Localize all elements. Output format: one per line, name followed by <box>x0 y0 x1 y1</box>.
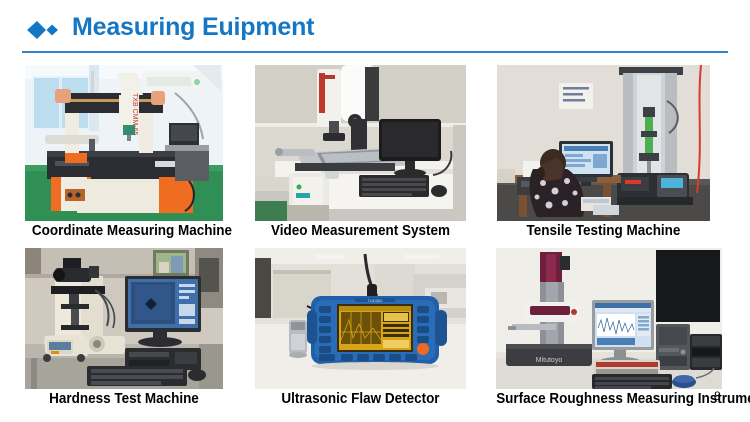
photo-coordinate-measuring-machine: TXB CMM-65 <box>25 65 223 221</box>
svg-text:Mitutoyo: Mitutoyo <box>536 357 563 364</box>
caption-tensile-testing-machine: Tensile Testing Machine <box>504 223 702 239</box>
title-divider <box>22 51 728 53</box>
photo-ultrasonic-flaw-detector: TUD300 <box>255 248 466 389</box>
photo-video-measurement-system <box>255 65 466 221</box>
double-diamond-icon <box>26 20 60 40</box>
photo-surface-roughness-measuring-instrument: Mitutoyo <box>496 248 722 389</box>
caption-ultrasonic-flaw-detector: Ultrasonic Flaw Detector <box>262 391 458 407</box>
svg-text:TUD300: TUD300 <box>368 298 384 303</box>
page-number: 8 <box>714 389 721 403</box>
photo-hardness-test-machine <box>25 248 223 389</box>
photo-tensile-testing-machine <box>497 65 710 221</box>
caption-surface-roughness-measuring-instrument: Surface Roughness Measuring Instrument <box>496 391 714 407</box>
slide-header: Measuring Euipment <box>0 0 750 56</box>
page-title: Measuring Euipment <box>72 13 314 42</box>
caption-coordinate-measuring-machine: Coordinate Measuring Machine <box>32 223 216 239</box>
caption-video-measurement-system: Video Measurement System <box>262 223 458 239</box>
caption-hardness-test-machine: Hardness Test Machine <box>32 391 216 407</box>
